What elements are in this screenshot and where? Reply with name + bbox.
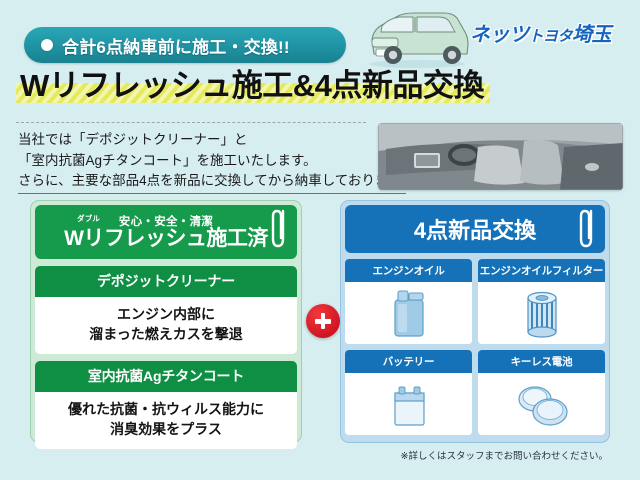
part-cell-2: バッテリー bbox=[345, 350, 472, 435]
footnote-text: ※詳しくはスタッフまでお問い合わせください。 bbox=[340, 448, 610, 462]
part-cell-1: エンジンオイルフィルター bbox=[478, 259, 605, 344]
oil-filter-icon bbox=[519, 286, 565, 340]
battery-icon bbox=[384, 377, 434, 431]
promo-pill-label: 合計6点納車前に施工・交換!! bbox=[62, 33, 290, 58]
car-illustration-icon bbox=[358, 4, 476, 70]
left-item-0-line-1: エンジン内部に bbox=[35, 305, 297, 325]
part-cell-0: エンジンオイル bbox=[345, 259, 472, 344]
right-panel-four-new-parts: 4点新品交換 エンジンオイル エンジンオイルフィルター bbox=[340, 200, 610, 443]
left-item-1-title: 室内抗菌Agチタンコート bbox=[35, 361, 297, 392]
part-cell-0-body bbox=[345, 282, 472, 344]
headline-container: Wリフレッシュ施工&4点新品交換 bbox=[16, 68, 490, 105]
parts-grid: エンジンオイル エンジンオイルフィルター bbox=[345, 259, 605, 435]
oil-bottle-icon bbox=[384, 286, 434, 340]
dealer-logo: ネッツトヨタ埼玉 bbox=[470, 18, 611, 47]
description-line-2: 「室内抗菌Agチタンコート」を施工いたします。 bbox=[18, 151, 378, 172]
ruby-annotation: ダブル bbox=[77, 213, 100, 224]
logo-text-netz: ネッツ bbox=[470, 24, 529, 46]
left-panel-w-refresh: ダブル 安心・安全・清潔 Wリフレッシュ施工済 デポジットクリーナー エンジン内… bbox=[30, 200, 302, 443]
part-cell-0-title: エンジンオイル bbox=[345, 259, 472, 282]
header-area: 合計6点納車前に施工・交換!! ネッツトヨタ埼玉 Wリフレッシュ施工&4点新品交… bbox=[0, 0, 640, 118]
part-cell-2-body bbox=[345, 373, 472, 435]
description-line-3: さらに、主要な部品4点を新品に交換してから納車しております! bbox=[18, 171, 406, 194]
left-item-1-line-2: 消臭効果をプラス bbox=[35, 420, 297, 440]
coin-battery-icon bbox=[511, 377, 573, 431]
left-item-1-body: 優れた抗菌・抗ウィルス能力に 消臭効果をプラス bbox=[35, 392, 297, 449]
car-interior-photo bbox=[378, 123, 623, 190]
right-panel-header: 4点新品交換 bbox=[345, 205, 605, 253]
left-item-0-line-2: 溜まった燃えカスを撃退 bbox=[35, 325, 297, 345]
part-cell-3: キーレス電池 bbox=[478, 350, 605, 435]
main-headline-text: Wリフレッシュ施工&4点新品交換 bbox=[20, 68, 484, 103]
part-cell-1-title: エンジンオイルフィルター bbox=[478, 259, 605, 282]
left-panel-header: ダブル 安心・安全・清潔 Wリフレッシュ施工済 bbox=[35, 205, 297, 259]
part-cell-3-body bbox=[478, 373, 605, 435]
description-block: 当社では「デポジットクリーナー」と 「室内抗菌Agチタンコート」を施工いたします… bbox=[18, 130, 378, 194]
left-item-1-line-1: 優れた抗菌・抗ウィルス能力に bbox=[35, 400, 297, 420]
dashed-divider bbox=[16, 122, 366, 123]
part-cell-1-body bbox=[478, 282, 605, 344]
bullet-dot-icon bbox=[41, 39, 53, 51]
left-item-0: デポジットクリーナー エンジン内部に 溜まった燃えカスを撃退 bbox=[35, 266, 297, 354]
paperclip-icon bbox=[269, 207, 291, 251]
part-cell-3-title: キーレス電池 bbox=[478, 350, 605, 373]
logo-text-toyota: トヨタ bbox=[529, 28, 573, 45]
main-headline: Wリフレッシュ施工&4点新品交換 bbox=[16, 68, 490, 105]
logo-text-saitama: 埼玉 bbox=[572, 24, 611, 46]
left-item-1: 室内抗菌Agチタンコート 優れた抗菌・抗ウィルス能力に 消臭効果をプラス bbox=[35, 361, 297, 449]
left-item-0-title: デポジットクリーナー bbox=[35, 266, 297, 297]
right-panel-title: 4点新品交換 bbox=[414, 213, 536, 245]
paperclip-icon bbox=[577, 207, 599, 251]
promo-pill-banner: 合計6点納車前に施工・交換!! bbox=[24, 27, 346, 63]
left-panel-title: Wリフレッシュ施工済 bbox=[64, 227, 268, 250]
plus-badge-icon bbox=[306, 304, 340, 338]
left-item-0-body: エンジン内部に 溜まった燃えカスを撃退 bbox=[35, 297, 297, 354]
description-line-1: 当社では「デポジットクリーナー」と bbox=[18, 130, 378, 151]
part-cell-2-title: バッテリー bbox=[345, 350, 472, 373]
